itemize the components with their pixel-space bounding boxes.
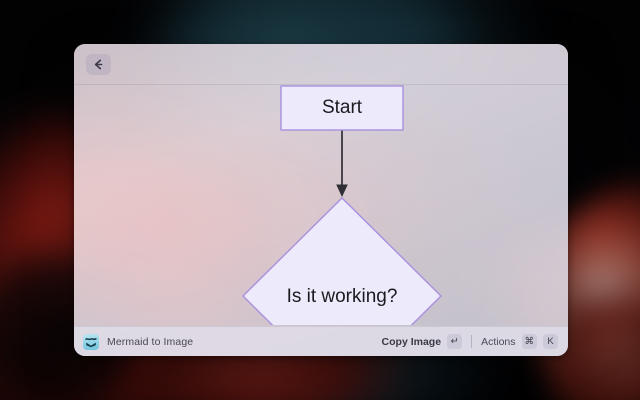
- k-key-badge: K: [543, 334, 558, 349]
- app-window: Start Is it working? Mermaid to Image: [74, 44, 568, 356]
- footer-app-title: Mermaid to Image: [107, 336, 193, 348]
- footer-app-info: Mermaid to Image: [83, 334, 193, 350]
- actions-button[interactable]: Actions: [481, 336, 515, 348]
- window-header: [74, 44, 568, 85]
- footer-actions: Copy Image ↵ Actions ⌘ K: [382, 334, 558, 349]
- screen: Start Is it working? Mermaid to Image: [0, 0, 640, 400]
- back-button[interactable]: [86, 54, 111, 75]
- footer-divider: [471, 335, 472, 348]
- mermaid-flowchart: Start Is it working?: [74, 85, 568, 325]
- arrowhead-icon: [336, 185, 348, 198]
- flowchart-node-start[interactable]: Start: [281, 86, 403, 130]
- mermaid-to-image-app-icon: [83, 334, 99, 350]
- window-footer: Mermaid to Image Copy Image ↵ Actions ⌘ …: [74, 326, 568, 356]
- flowchart-node-start-label: Start: [322, 97, 363, 118]
- copy-image-button[interactable]: Copy Image: [382, 336, 442, 348]
- command-key-badge: ⌘: [522, 334, 538, 349]
- diagram-canvas[interactable]: Start Is it working?: [74, 85, 568, 326]
- flowchart-node-decision[interactable]: Is it working?: [243, 198, 441, 325]
- enter-key-badge: ↵: [447, 334, 462, 349]
- arrow-left-icon: [92, 58, 105, 71]
- edge-start-to-decision: [336, 127, 348, 197]
- flowchart-node-decision-label: Is it working?: [287, 286, 398, 307]
